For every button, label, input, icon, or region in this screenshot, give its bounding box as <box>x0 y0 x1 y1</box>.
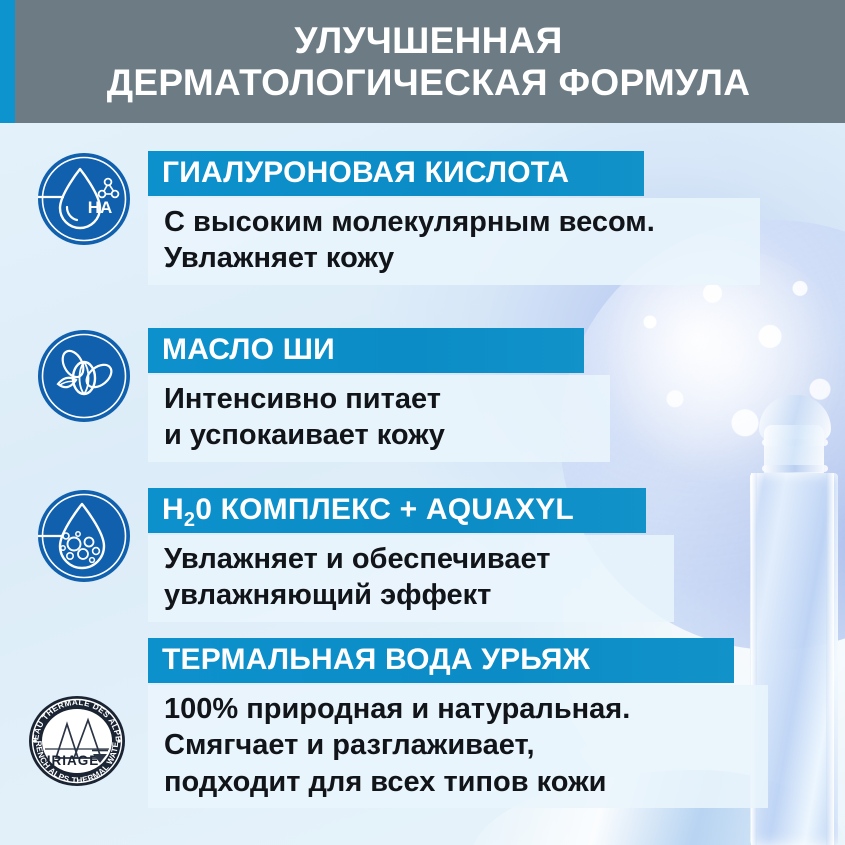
shea-nuts-icon <box>36 328 132 424</box>
hyaluronic-acid-droplet-icon: HA <box>36 151 132 247</box>
feature-text-hyaluronic-acid: ГИАЛУРОНОВАЯ КИСЛОТА С высоким молекуляр… <box>148 151 845 285</box>
feature-text-thermal-water: ТЕРМАЛЬНАЯ ВОДА УРЬЯЖ 100% природная и н… <box>148 638 845 808</box>
h2o-title-rest: 0 КОМПЛЕКС + AQUAXYL <box>195 493 574 526</box>
feature-body-panel-h2o-complex: Увлажняет и обеспечивает увлажняющий эфф… <box>148 535 674 622</box>
feature-body-thermal-water: 100% природная и натуральная. Смягчает и… <box>164 691 750 801</box>
header-title-line-1: УЛУЧШЕННАЯ <box>294 20 562 61</box>
feature-list: HA ГИАЛУРОНОВАЯ КИСЛОТА С высоким молеку… <box>0 123 845 845</box>
feature-title-h2o-complex: H20 КОМПЛЕКС + AQUAXYL <box>148 488 646 533</box>
feature-text-shea-butter: МАСЛО ШИ Интенсивно питает и успокаивает… <box>148 328 845 462</box>
page-title: УЛУЧШЕННАЯ ДЕРМАТОЛОГИЧЕСКАЯ ФОРМУЛА <box>87 20 759 104</box>
h2o-subscript: 2 <box>184 509 195 531</box>
header-title-line-2: ДЕРМАТОЛОГИЧЕСКАЯ ФОРМУЛА <box>107 62 751 104</box>
water-droplet-bubbles-icon <box>36 488 132 584</box>
h2o-prefix: H <box>162 493 184 526</box>
feature-title-shea-butter: МАСЛО ШИ <box>148 328 584 373</box>
ha-label: HA <box>88 198 113 217</box>
feature-body-h2o-complex: Увлажняет и обеспечивает увлажняющий эфф… <box>164 541 656 614</box>
promo-banner: УЛУЧШЕННАЯ ДЕРМАТОЛОГИЧЕСКАЯ ФОРМУЛА <box>0 0 845 845</box>
feature-text-h2o-complex: H20 КОМПЛЕКС + AQUAXYL Увлажняет и обесп… <box>148 488 845 622</box>
uriage-thermal-water-logo: URIAGE L'EAU THERMALE DES ALPES FRENCH A… <box>22 686 132 796</box>
feature-body-hyaluronic-acid: С высоким молекулярным весом. Увлажняет … <box>164 204 742 277</box>
header-accent-bar <box>0 0 15 123</box>
feature-body-panel-thermal-water: 100% природная и натуральная. Смягчает и… <box>148 685 768 809</box>
feature-title-thermal-water: ТЕРМАЛЬНАЯ ВОДА УРЬЯЖ <box>148 638 734 683</box>
feature-body-shea-butter: Интенсивно питает и успокаивает кожу <box>164 381 592 454</box>
feature-body-panel-shea-butter: Интенсивно питает и успокаивает кожу <box>148 375 610 462</box>
feature-title-hyaluronic-acid: ГИАЛУРОНОВАЯ КИСЛОТА <box>148 151 644 196</box>
feature-body-panel-hyaluronic-acid: С высоким молекулярным весом. Увлажняет … <box>148 198 760 285</box>
header-banner: УЛУЧШЕННАЯ ДЕРМАТОЛОГИЧЕСКАЯ ФОРМУЛА <box>0 0 845 123</box>
